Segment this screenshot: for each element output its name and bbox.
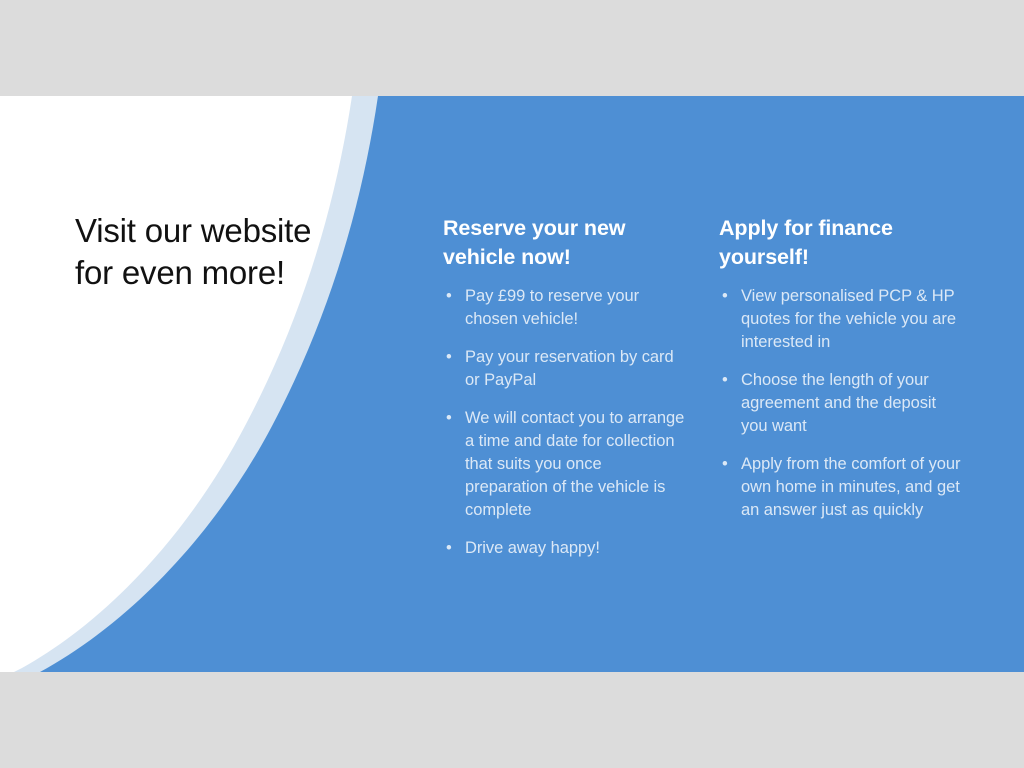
slide-viewer: Visit our website for even more! Reserve… xyxy=(0,0,1024,768)
page-title: Visit our website for even more! xyxy=(75,210,325,294)
white-blob-shape xyxy=(0,96,352,672)
list-item: • View personalised PCP & HP quotes for … xyxy=(719,285,964,354)
column-reserve-vehicle: Reserve your new vehicle now! • Pay £99 … xyxy=(443,214,688,560)
list-item-text: View personalised PCP & HP quotes for th… xyxy=(741,287,956,351)
content-columns: Reserve your new vehicle now! • Pay £99 … xyxy=(443,214,983,560)
list-item: • Pay your reservation by card or PayPal xyxy=(443,346,688,392)
bullet-dot-icon: • xyxy=(446,285,452,308)
list-item: • Pay £99 to reserve your chosen vehicle… xyxy=(443,285,688,331)
column-heading: Apply for finance yourself! xyxy=(719,214,964,272)
accent-arc-shape xyxy=(0,96,378,672)
list-item-text: Pay £99 to reserve your chosen vehicle! xyxy=(465,287,639,328)
letterbox-bottom xyxy=(0,672,1024,768)
column-heading: Reserve your new vehicle now! xyxy=(443,214,688,272)
list-item: • Apply from the comfort of your own hom… xyxy=(719,453,964,522)
letterbox-top xyxy=(0,0,1024,96)
bullet-dot-icon: • xyxy=(722,369,728,392)
bullet-list: • View personalised PCP & HP quotes for … xyxy=(719,285,964,522)
column-apply-finance: Apply for finance yourself! • View perso… xyxy=(719,214,964,560)
bullet-dot-icon: • xyxy=(722,285,728,308)
list-item-text: Pay your reservation by card or PayPal xyxy=(465,348,674,389)
bullet-dot-icon: • xyxy=(446,346,452,369)
bullet-dot-icon: • xyxy=(446,537,452,560)
list-item: • Choose the length of your agreement an… xyxy=(719,369,964,438)
list-item: • Drive away happy! xyxy=(443,537,688,560)
bullet-dot-icon: • xyxy=(446,407,452,430)
bullet-dot-icon: • xyxy=(722,453,728,476)
slide-canvas: Visit our website for even more! Reserve… xyxy=(0,96,1024,672)
bullet-list: • Pay £99 to reserve your chosen vehicle… xyxy=(443,285,688,560)
list-item-text: We will contact you to arrange a time an… xyxy=(465,409,684,519)
list-item-text: Drive away happy! xyxy=(465,539,600,557)
list-item-text: Choose the length of your agreement and … xyxy=(741,371,936,435)
list-item-text: Apply from the comfort of your own home … xyxy=(741,455,961,519)
list-item: • We will contact you to arrange a time … xyxy=(443,407,688,522)
